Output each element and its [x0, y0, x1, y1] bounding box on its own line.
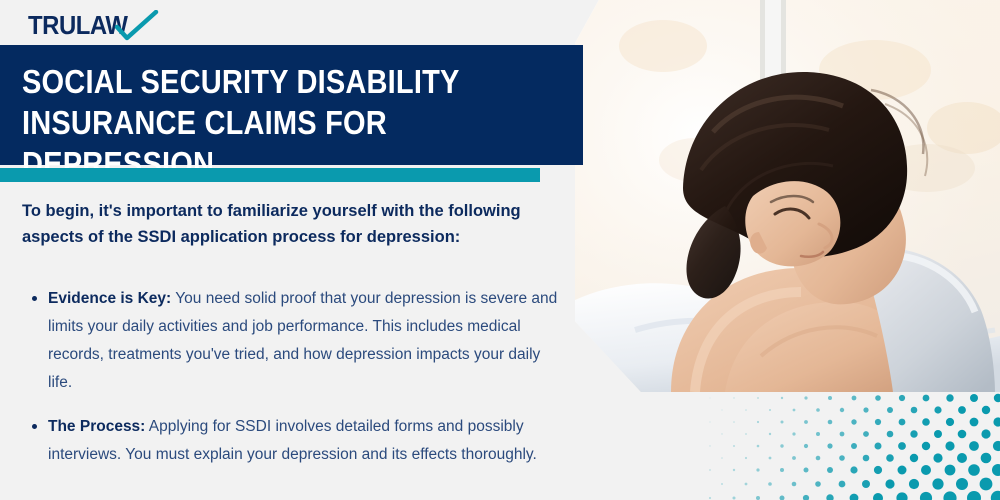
list-item: Evidence is Key: You need solid proof th…	[22, 285, 562, 397]
bullet-marker-icon	[32, 424, 37, 429]
bullet-lead-label: The Process:	[48, 418, 145, 435]
dot-grid-svg	[700, 392, 1000, 500]
bullet-list: Evidence is Key: You need solid proof th…	[22, 285, 562, 485]
page-title: Social Security Disability Insurance Cla…	[22, 61, 502, 184]
infographic-canvas: TRULAW Social Security Disability Insura…	[0, 0, 1000, 500]
hero-photo	[575, 0, 1000, 392]
hero-photo-illustration	[575, 0, 1000, 392]
bullet-lead-label: Evidence is Key:	[48, 290, 171, 307]
title-banner: Social Security Disability Insurance Cla…	[0, 45, 583, 165]
intro-paragraph: To begin, it's important to familiarize …	[22, 198, 522, 250]
bullet-marker-icon	[32, 296, 37, 301]
list-item: The Process: Applying for SSDI involves …	[22, 413, 562, 469]
trulaw-logo[interactable]: TRULAW	[28, 8, 163, 42]
teal-accent-bar	[0, 168, 540, 182]
check-icon	[114, 10, 160, 42]
dot-pattern-decoration	[700, 392, 1000, 500]
logo-wordmark: TRULAW	[28, 12, 128, 38]
